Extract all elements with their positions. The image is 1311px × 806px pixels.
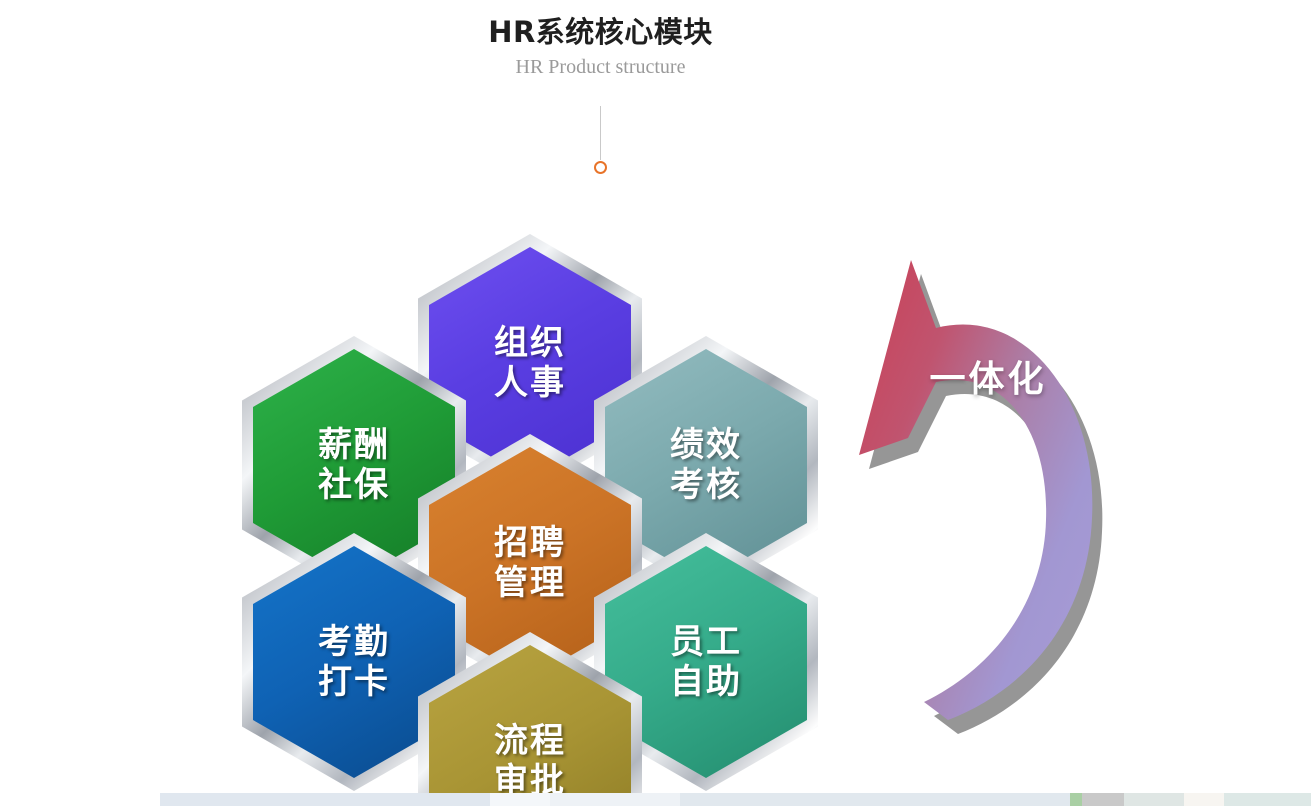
hex-face: [429, 645, 631, 806]
arrow-label: 一体化: [893, 350, 1083, 402]
integration-arrow: 一体化: [836, 250, 1126, 740]
hex-node-workflow[interactable]: 流程 审批: [418, 632, 642, 806]
honeycomb-diagram: 组织 人事 薪酬 社保 绩效 考核 招聘: [0, 0, 900, 806]
bottom-bar[interactable]: [0, 793, 1311, 806]
slide-canvas: HR系统核心模块 HR Product structure 组织 人事 薪酬 社…: [0, 0, 1311, 806]
